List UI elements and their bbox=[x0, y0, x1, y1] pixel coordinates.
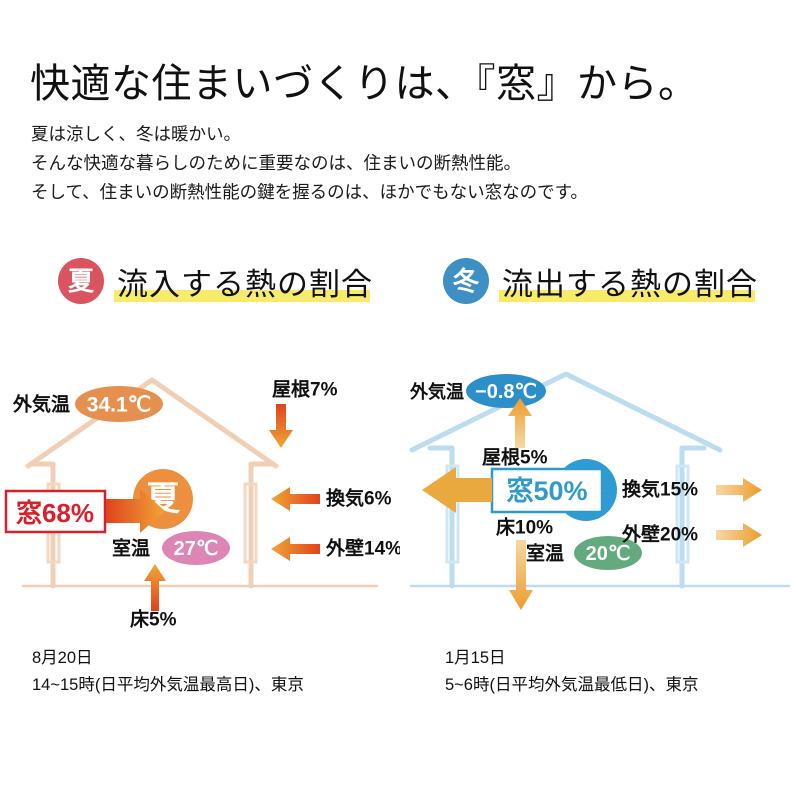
section-title-summer: 流入する熱の割合 bbox=[117, 267, 373, 302]
page-title: 快適な住まいづくりは、『窓』から。 bbox=[30, 51, 699, 109]
floor-label-winter: 床10% bbox=[496, 516, 553, 539]
arrow-ventilation-winter-icon bbox=[716, 478, 762, 502]
arrow-wall-winter-icon bbox=[716, 523, 762, 547]
lead-line-3: そして、住まいの断熱性能の鍵を握るのは、ほかでもない窓なのです。 bbox=[31, 178, 588, 207]
arrow-ventilation-summer-icon bbox=[271, 487, 320, 511]
outdoor-temp-label-summer: 外気温 bbox=[12, 393, 70, 416]
outdoor-temp-value-summer: 34.1℃ bbox=[87, 394, 151, 417]
indoor-temp-value-summer: 27℃ bbox=[174, 538, 219, 560]
section-title-winter-wrap: 流出する熱の割合 bbox=[499, 259, 761, 304]
wall-label-summer: 外壁14% bbox=[325, 537, 400, 560]
outdoor-temp-value-winter: −0.8℃ bbox=[475, 381, 537, 403]
arrow-floor-summer-icon bbox=[144, 564, 166, 611]
caption-summer-detail: 14~15時(日平均外気温最高日)、東京 bbox=[32, 672, 304, 699]
caption-winter-detail: 5~6時(日平均外気温最低日)、東京 bbox=[445, 672, 698, 699]
roof-label-summer: 屋根7% bbox=[272, 379, 338, 401]
indoor-temp-value-winter: 20℃ bbox=[586, 543, 631, 565]
arrow-roof-summer-icon bbox=[269, 404, 293, 448]
wall-label-winter: 外壁20% bbox=[621, 523, 698, 546]
roof-label-winter: 屋根5% bbox=[482, 447, 548, 469]
window-callout-label-winter: 窓50% bbox=[506, 476, 587, 506]
diagram-summer-heat-gain: 夏 34.1℃ 外気温 27℃ 室温 窓68% 屋根7% 換気6% 外壁14% … bbox=[0, 368, 400, 628]
arrow-wall-summer-icon bbox=[271, 537, 320, 561]
section-title-summer-wrap: 流入する熱の割合 bbox=[114, 259, 376, 304]
diagram-winter-heat-loss: 冬 −0.8℃ 外気温 20℃ 室温 窓50% 屋根5% 換気15% 外壁20%… bbox=[400, 368, 800, 628]
season-badge-winter-icon: 冬 bbox=[443, 258, 489, 304]
lead-line-1: 夏は涼しく、冬は暖かい。 bbox=[31, 120, 588, 149]
section-header-summer: 夏 流入する熱の割合 bbox=[58, 258, 376, 304]
lead-paragraph: 夏は涼しく、冬は暖かい。 そんな快適な暮らしのために重要なのは、住まいの断熱性能… bbox=[31, 120, 588, 207]
caption-winter-date: 1月15日 bbox=[445, 645, 698, 672]
caption-winter: 1月15日 5~6時(日平均外気温最低日)、東京 bbox=[445, 645, 698, 699]
ventilation-label-summer: 換気6% bbox=[326, 487, 392, 510]
ventilation-label-winter: 換気15% bbox=[622, 478, 698, 501]
season-badge-summer-label: 夏 bbox=[68, 268, 94, 294]
caption-summer-date: 8月20日 bbox=[32, 645, 304, 672]
caption-summer: 8月20日 14~15時(日平均外気温最高日)、東京 bbox=[32, 645, 304, 699]
floor-label-summer: 床5% bbox=[130, 608, 177, 629]
indoor-temp-label-winter: 室温 bbox=[526, 542, 564, 565]
window-callout-label-summer: 窓68% bbox=[16, 498, 94, 528]
indoor-temp-label-summer: 室温 bbox=[112, 537, 150, 560]
outdoor-temp-label-winter: 外気温 bbox=[409, 381, 464, 402]
season-badge-winter-label: 冬 bbox=[453, 268, 479, 294]
section-header-winter: 冬 流出する熱の割合 bbox=[443, 258, 761, 304]
lead-line-2: そんな快適な暮らしのために重要なのは、住まいの断熱性能。 bbox=[31, 149, 588, 178]
section-title-winter: 流出する熱の割合 bbox=[502, 267, 758, 302]
season-badge-summer-icon: 夏 bbox=[58, 258, 104, 304]
